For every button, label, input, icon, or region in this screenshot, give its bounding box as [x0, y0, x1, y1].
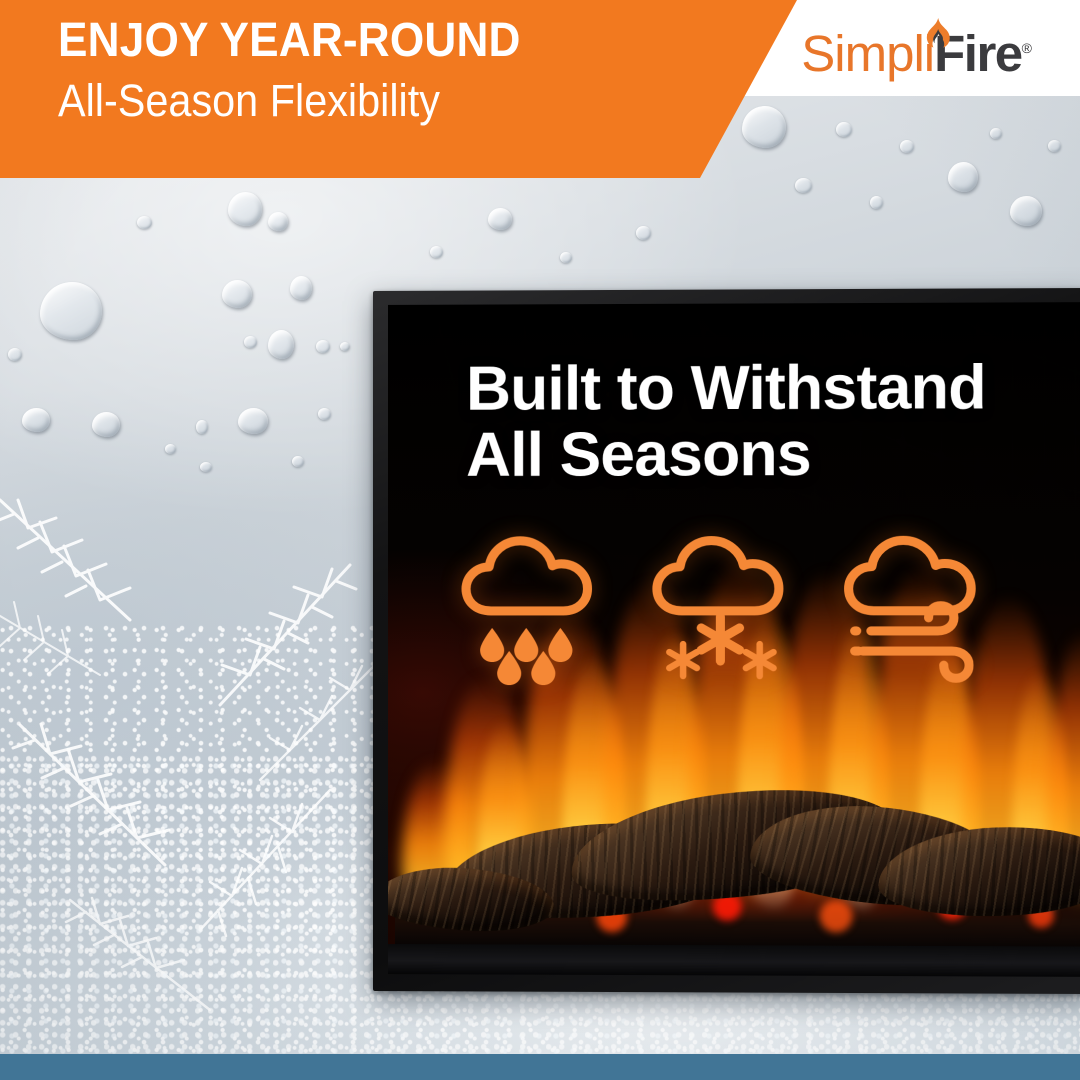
- snow-cloud-icon: [649, 532, 800, 678]
- fireplace-hearth: [388, 944, 1080, 977]
- footer-bar: [0, 1054, 1080, 1080]
- fireplace-firebox: Built to Withstand All Seasons: [388, 302, 1080, 977]
- header-headline-line1: ENJOY YEAR-ROUND: [58, 14, 647, 68]
- flame-icon: [923, 7, 953, 39]
- fireplace-headline-line1: Built to Withstand: [466, 355, 986, 423]
- weather-icon-row: [458, 532, 992, 678]
- header-headline: ENJOY YEAR-ROUND All-Season Flexibility: [58, 14, 698, 128]
- fireplace-headline: Built to Withstand All Seasons: [466, 355, 986, 488]
- brand-logo[interactable]: SimpliFire®: [801, 17, 1032, 79]
- registered-trademark-symbol: ®: [1022, 40, 1032, 56]
- wind-cloud-icon: [841, 532, 993, 678]
- brand-logo-simpli: Simpli: [801, 25, 934, 82]
- brand-logo-wordmark: SimpliFire®: [801, 28, 1032, 79]
- promo-image: Built to Withstand All Seasons: [0, 0, 1080, 1080]
- fireplace-unit: Built to Withstand All Seasons: [373, 288, 1080, 994]
- rain-cloud-icon: [458, 533, 609, 678]
- header-headline-line2: All-Season Flexibility: [58, 74, 647, 128]
- fireplace-headline-line2: All Seasons: [466, 421, 986, 488]
